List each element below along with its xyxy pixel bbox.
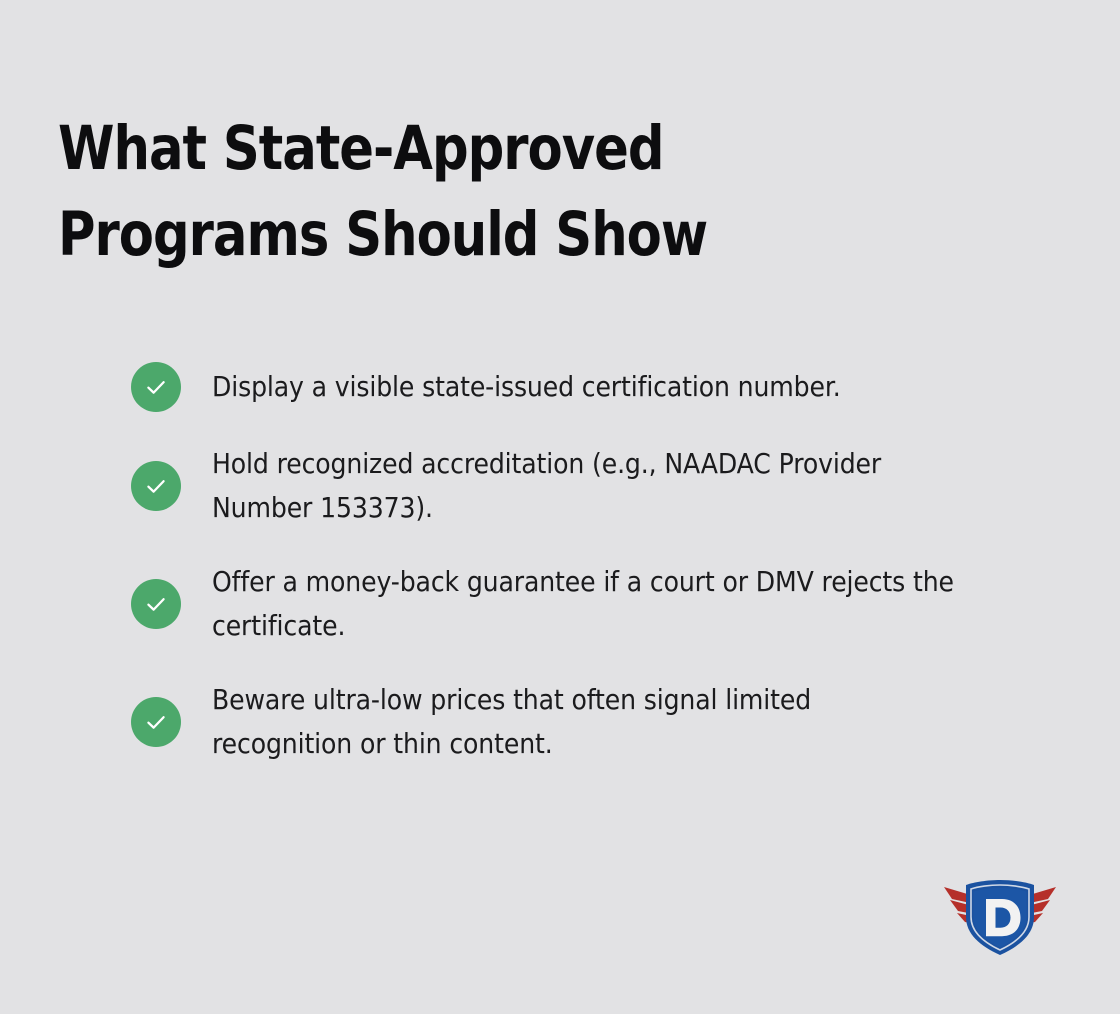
checklist: Display a visible state-issued certifica… xyxy=(131,362,1051,766)
check-circle-icon xyxy=(131,362,181,412)
check-circle-icon xyxy=(131,461,181,511)
winged-shield-d-logo xyxy=(940,872,1060,960)
list-item: Display a visible state-issued certifica… xyxy=(131,362,1051,412)
list-item-label: Offer a money-back guarantee if a court … xyxy=(212,560,980,648)
list-item: Offer a money-back guarantee if a court … xyxy=(131,560,1051,648)
list-item-label: Display a visible state-issued certifica… xyxy=(212,365,980,409)
list-item: Hold recognized accreditation (e.g., NAA… xyxy=(131,442,1051,530)
check-circle-icon xyxy=(131,697,181,747)
check-circle-icon xyxy=(131,579,181,629)
slide-canvas: What State-Approved Programs Should Show… xyxy=(0,0,1120,1014)
list-item-label: Hold recognized accreditation (e.g., NAA… xyxy=(212,442,980,530)
page-title: What State-Approved Programs Should Show xyxy=(58,106,747,278)
list-item: Beware ultra-low prices that often signa… xyxy=(131,678,1051,766)
list-item-label: Beware ultra-low prices that often signa… xyxy=(212,678,944,766)
